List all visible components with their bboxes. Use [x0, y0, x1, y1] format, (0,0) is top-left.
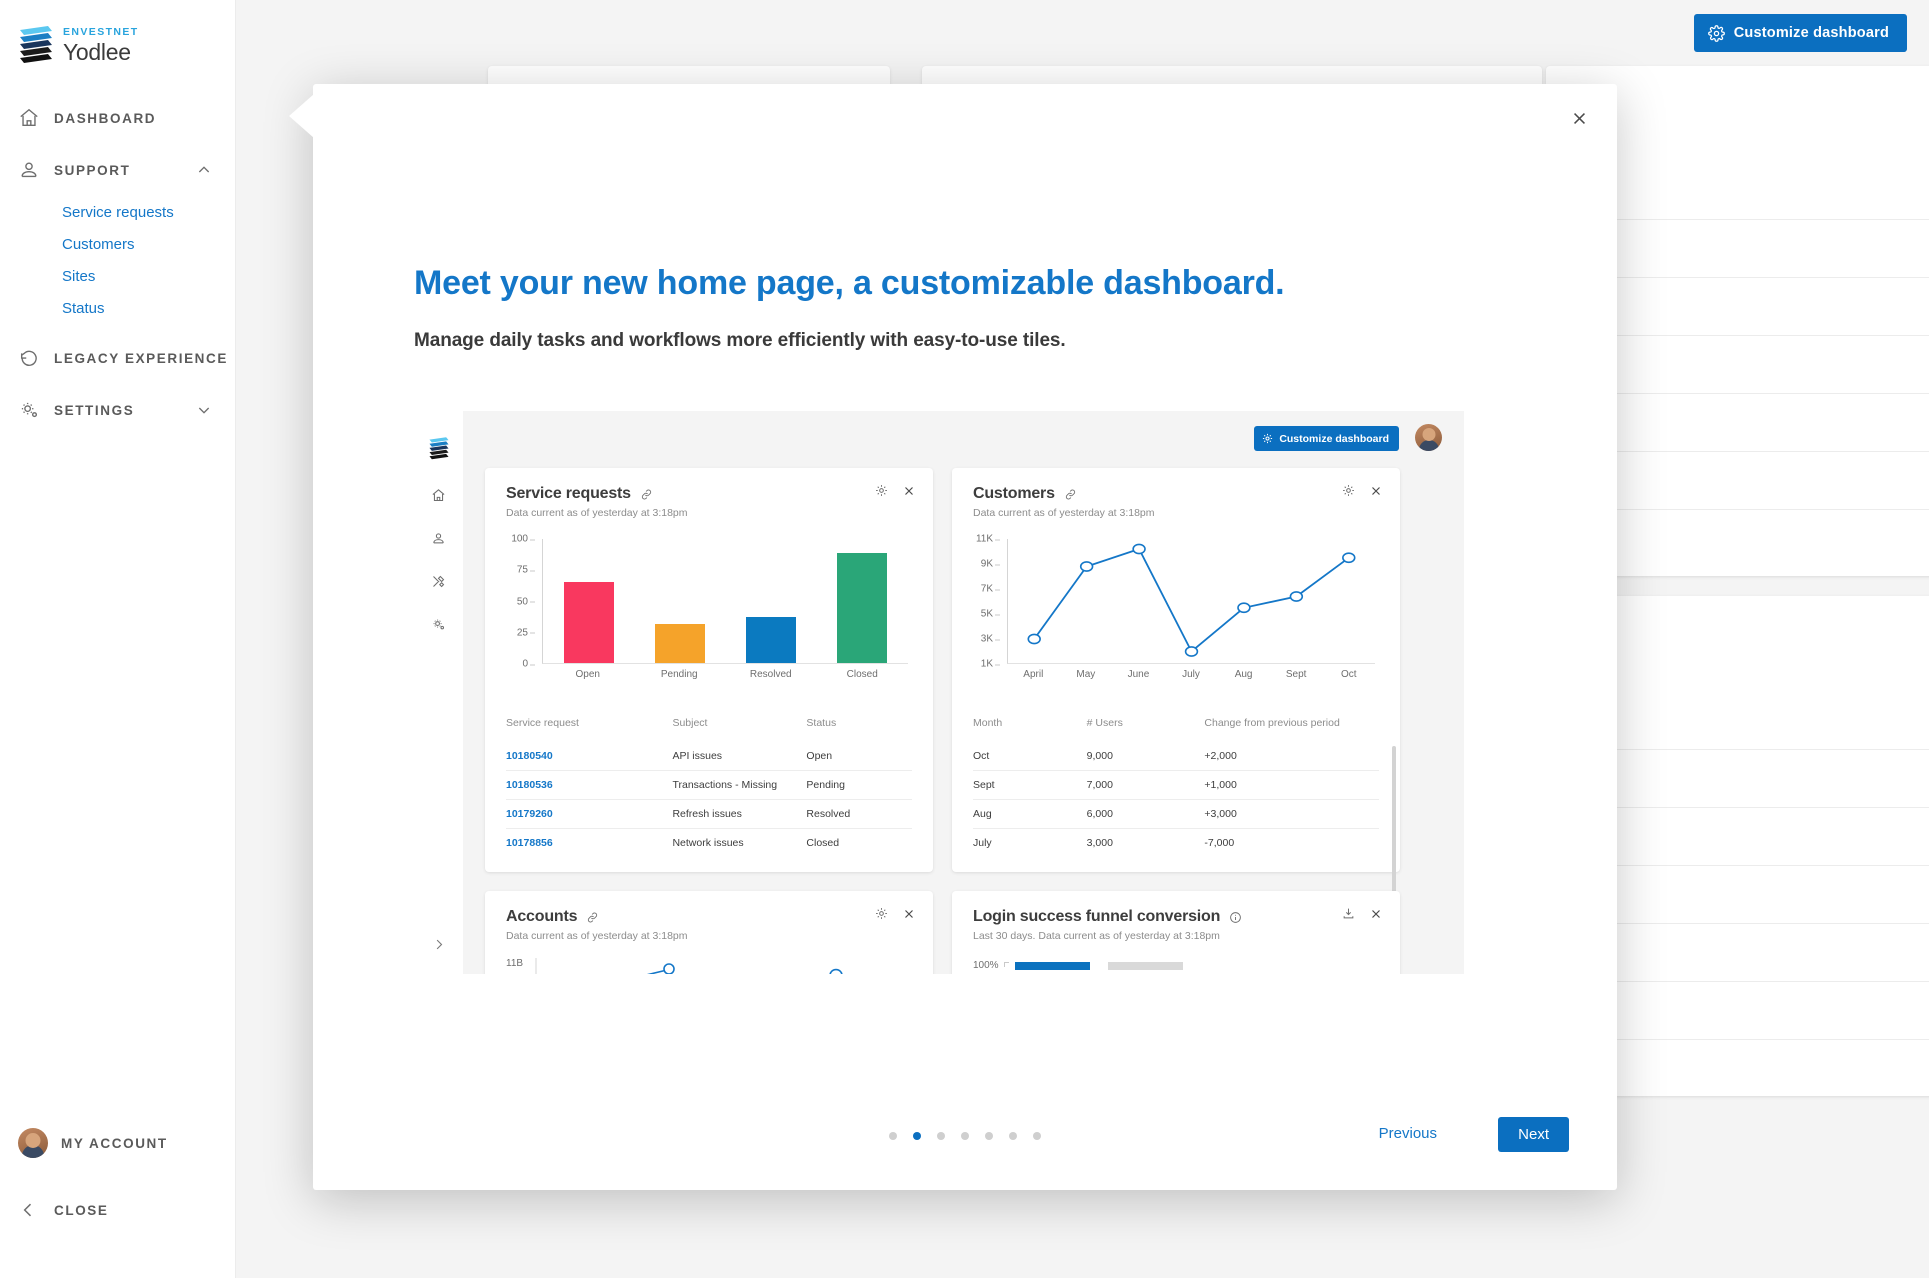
table-header-row: Service request Subject Status — [506, 717, 912, 742]
close-sidebar-label: CLOSE — [54, 1203, 109, 1218]
subject-cell: Transactions - Missing — [672, 771, 806, 800]
bar-chart-y-axis: 100 75 50 25 0 — [506, 539, 536, 664]
customize-dashboard-button[interactable]: Customize dashboard — [1694, 14, 1907, 52]
table-row[interactable]: 10178856Network issuesClosed — [506, 829, 912, 858]
tile-customers[interactable]: Customers Data current as of yesterday a… — [952, 468, 1400, 872]
column-header: Status — [806, 717, 912, 742]
line-chart-plot — [1007, 539, 1375, 664]
login-funnel-chart: 100% — [973, 960, 1379, 974]
tile-subtitle: Data current as of yesterday at 3:18pm — [973, 507, 1379, 519]
sidebar-item-legacy-experience[interactable]: LEGACY EXPERIENCE — [0, 332, 236, 384]
status-cell: Resolved — [806, 800, 912, 829]
data-point — [1133, 544, 1145, 553]
preview-tile-grid: Service requests Data current as of yest… — [485, 468, 1442, 974]
line-chart-y-axis: 11K9K7K5K3K1K — [973, 539, 1001, 664]
top-bar: Customize dashboard — [472, 0, 1929, 68]
bar-resolved — [746, 617, 796, 663]
tile-subtitle: Last 30 days. Data current as of yesterd… — [973, 930, 1379, 942]
my-account-label: MY ACCOUNT — [61, 1136, 168, 1151]
brand-name-bottom: Yodlee — [63, 39, 131, 65]
my-account-button[interactable]: MY ACCOUNT — [18, 1128, 168, 1158]
gear-icon[interactable] — [875, 907, 888, 920]
link-icon[interactable] — [640, 488, 653, 501]
preview-topbar: Customize dashboard — [463, 411, 1464, 468]
sidebar-sublabel: Status — [62, 300, 105, 317]
tile-title: Accounts — [506, 908, 577, 926]
y-tick: 100 — [511, 534, 528, 545]
funnel-bar-2 — [1108, 962, 1183, 970]
close-icon[interactable] — [1370, 485, 1382, 497]
month-cell: July — [973, 829, 1087, 858]
x-tick: Open — [563, 669, 613, 680]
gear-icon[interactable] — [1342, 484, 1355, 497]
table-row[interactable]: July3,000-7,000 — [973, 829, 1379, 858]
service-request-link[interactable]: 10180540 — [506, 750, 553, 762]
brand-name-top: ENVESTNET — [63, 26, 139, 38]
column-header: # Users — [1087, 717, 1205, 742]
tile-login-success-funnel[interactable]: Login success funnel conversion Last 30 … — [952, 891, 1400, 974]
change-cell: +2,000 — [1204, 742, 1379, 771]
preview-customize-dashboard-button[interactable]: Customize dashboard — [1254, 426, 1399, 451]
tile-controls[interactable] — [875, 484, 915, 497]
carousel-dot[interactable] — [985, 1132, 993, 1140]
tile-accounts[interactable]: Accounts Data current as of yesterday at… — [485, 891, 933, 974]
download-icon[interactable] — [1342, 907, 1355, 920]
month-cell: Sept — [973, 771, 1087, 800]
data-point — [1290, 592, 1302, 601]
y-tick: 50 — [517, 596, 528, 607]
chevron-right-icon[interactable] — [431, 937, 446, 952]
change-cell: +3,000 — [1204, 800, 1379, 829]
change-cell: -7,000 — [1204, 829, 1379, 858]
tile-subtitle: Data current as of yesterday at 3:18pm — [506, 930, 912, 942]
customers-line-chart: 11K9K7K5K3K1K AprilMayJuneJulyAugSeptOct — [973, 539, 1379, 691]
accounts-line-chart: 11B — [506, 958, 912, 974]
sidebar-item-customers[interactable]: Customers — [0, 228, 236, 260]
yodlee-logo-icon — [18, 24, 54, 64]
x-tick: July — [1165, 669, 1218, 680]
gear-icon — [1708, 25, 1725, 42]
x-tick: Sept — [1270, 669, 1323, 680]
yodlee-logo-icon — [428, 436, 450, 460]
data-point — [1186, 647, 1198, 656]
bar-chart-x-labels: OpenPendingResolvedClosed — [542, 669, 908, 680]
y-tick: 100% — [973, 960, 999, 971]
column-header: Change from previous period — [1204, 717, 1379, 742]
support-agent-icon[interactable] — [431, 531, 446, 546]
table-row[interactable]: Oct9,000+2,000 — [973, 742, 1379, 771]
users-cell: 3,000 — [1087, 829, 1205, 858]
y-tick: 3K — [981, 634, 993, 645]
sidebar-label: SUPPORT — [54, 163, 130, 178]
brand-logo[interactable]: ENVESTNET Yodlee — [18, 22, 139, 65]
next-button[interactable]: Next — [1498, 1117, 1569, 1152]
data-point — [1238, 603, 1250, 612]
sidebar-item-service-requests[interactable]: Service requests — [0, 196, 236, 228]
tile-header: Customers — [973, 485, 1379, 503]
close-icon[interactable] — [903, 908, 915, 920]
x-tick: Aug — [1217, 669, 1270, 680]
table-header-row: Month # Users Change from previous perio… — [973, 717, 1379, 742]
bar-pending — [655, 624, 705, 663]
sidebar-subnav-support: Service requests Customers Sites Status — [0, 196, 236, 324]
funnel-bar-1 — [1015, 962, 1090, 970]
y-tick: 1K — [981, 659, 993, 670]
bar-open — [564, 582, 614, 663]
y-tick: 11B — [506, 958, 523, 969]
x-tick: Oct — [1322, 669, 1375, 680]
support-agent-icon — [18, 159, 48, 181]
link-icon[interactable] — [586, 911, 599, 924]
sidebar-item-dashboard[interactable]: DASHBOARD — [0, 92, 236, 144]
y-tick: 7K — [981, 584, 993, 595]
data-point — [1081, 562, 1093, 571]
month-cell: Aug — [973, 800, 1087, 829]
x-tick: May — [1060, 669, 1113, 680]
close-sidebar-button[interactable]: CLOSE — [18, 1200, 109, 1220]
chevron-left-icon — [18, 1200, 38, 1220]
previous-button[interactable]: Previous — [1369, 1117, 1447, 1150]
change-cell: +1,000 — [1204, 771, 1379, 800]
dashboard-preview-image: Customize dashboard — [414, 411, 1464, 974]
gear-icon — [1262, 433, 1273, 444]
column-header: Subject — [672, 717, 806, 742]
service-requests-table: Service request Subject Status 10180540A… — [506, 717, 912, 857]
column-header: Month — [973, 717, 1087, 742]
column-header: Service request — [506, 717, 672, 742]
tile-header: Service requests — [506, 485, 912, 503]
history-undo-icon — [18, 347, 48, 369]
bar-chart-plot — [542, 539, 908, 664]
carousel-dot[interactable] — [1009, 1132, 1017, 1140]
y-tick: 0 — [522, 659, 528, 670]
modal-title: Meet your new home page, a customizable … — [414, 264, 1284, 303]
month-cell: Oct — [973, 742, 1087, 771]
sidebar-item-settings[interactable]: SETTINGS — [0, 384, 236, 436]
preview-nav-rail — [414, 411, 463, 974]
preview-customize-label: Customize dashboard — [1279, 433, 1389, 445]
link-icon[interactable] — [1064, 488, 1077, 501]
status-cell: Open — [806, 742, 912, 771]
status-cell: Pending — [806, 771, 912, 800]
table-row[interactable]: 10180536Transactions - MissingPending — [506, 771, 912, 800]
sidebar-label: LEGACY EXPERIENCE — [54, 351, 228, 366]
service-request-link[interactable]: 10180536 — [506, 779, 553, 791]
subject-cell: API issues — [672, 742, 806, 771]
preview-main: Customize dashboard — [463, 411, 1464, 974]
carousel-dot[interactable] — [1033, 1132, 1041, 1140]
info-icon[interactable] — [1229, 911, 1242, 924]
tile-header: Login success funnel conversion — [973, 908, 1379, 926]
sidebar-sublabel: Service requests — [62, 204, 174, 221]
service-requests-bar-chart: 100 75 50 25 0 OpenPendingResolvedClosed — [506, 539, 912, 691]
x-tick: Resolved — [746, 669, 796, 680]
sidebar-label: SETTINGS — [54, 403, 134, 418]
users-cell: 9,000 — [1087, 742, 1205, 771]
subject-cell: Refresh issues — [672, 800, 806, 829]
sidebar-label: DASHBOARD — [54, 111, 156, 126]
service-request-link[interactable]: 10179260 — [506, 808, 553, 820]
carousel-dot[interactable] — [961, 1132, 969, 1140]
gear-icon[interactable] — [431, 617, 446, 632]
x-tick: June — [1112, 669, 1165, 680]
sidebar-sublabel: Sites — [62, 268, 95, 285]
customize-dashboard-label: Customize dashboard — [1734, 25, 1889, 41]
y-tick: 25 — [517, 627, 528, 638]
chevron-down-icon[interactable] — [196, 402, 212, 418]
sidebar-sublabel: Customers — [62, 236, 135, 253]
tile-title: Login success funnel conversion — [973, 908, 1220, 926]
tile-title: Customers — [973, 485, 1055, 503]
sidebar-nav: DASHBOARD SUPPORT — [0, 92, 236, 436]
y-tick: 5K — [981, 609, 993, 620]
close-icon[interactable] — [903, 485, 915, 497]
modal-close-button[interactable] — [1565, 104, 1593, 132]
avatar[interactable] — [1415, 424, 1442, 451]
sidebar-item-sites[interactable]: Sites — [0, 260, 236, 292]
home-icon — [18, 107, 48, 129]
y-tick: 11K — [976, 534, 993, 545]
gear-icon[interactable] — [875, 484, 888, 497]
tile-subtitle: Data current as of yesterday at 3:18pm — [506, 507, 912, 519]
y-tick: 9K — [981, 559, 993, 570]
customers-table: Month # Users Change from previous perio… — [973, 717, 1379, 857]
x-tick: Closed — [837, 669, 887, 680]
table-row[interactable]: 10180540API issuesOpen — [506, 742, 912, 771]
gear-icon — [18, 399, 48, 421]
subject-cell: Network issues — [672, 829, 806, 858]
modal-pointer — [289, 94, 314, 138]
close-icon[interactable] — [1370, 908, 1382, 920]
tools-icon[interactable] — [431, 574, 446, 589]
data-point — [1343, 553, 1355, 562]
status-cell: Closed — [806, 829, 912, 858]
tile-controls[interactable] — [1342, 907, 1382, 920]
x-tick: Pending — [654, 669, 704, 680]
carousel-dot[interactable] — [889, 1132, 897, 1140]
bar-closed — [837, 553, 887, 663]
chevron-up-icon[interactable] — [196, 162, 212, 178]
sidebar-item-status[interactable]: Status — [0, 292, 236, 324]
tile-controls[interactable] — [1342, 484, 1382, 497]
modal-subtitle: Manage daily tasks and workflows more ef… — [414, 330, 1066, 352]
service-request-link[interactable]: 10178856 — [506, 837, 553, 849]
data-point — [1028, 634, 1040, 643]
line-chart-x-labels: AprilMayJuneJulyAugSeptOct — [1007, 669, 1375, 680]
home-icon[interactable] — [431, 488, 446, 503]
tile-header: Accounts — [506, 908, 912, 926]
table-row[interactable]: Sept7,000+1,000 — [973, 771, 1379, 800]
tile-title: Service requests — [506, 485, 631, 503]
y-tick: 75 — [517, 565, 528, 576]
table-row[interactable]: Aug6,000+3,000 — [973, 800, 1379, 829]
x-tick: April — [1007, 669, 1060, 680]
users-cell: 7,000 — [1087, 771, 1205, 800]
carousel-dot[interactable] — [913, 1132, 921, 1140]
carousel-dots[interactable] — [889, 1132, 1041, 1140]
table-row[interactable]: 10179260Refresh issuesResolved — [506, 800, 912, 829]
sidebar-item-support[interactable]: SUPPORT — [0, 144, 236, 196]
tile-controls[interactable] — [875, 907, 915, 920]
users-cell: 6,000 — [1087, 800, 1205, 829]
carousel-dot[interactable] — [937, 1132, 945, 1140]
onboarding-modal: Meet your new home page, a customizable … — [313, 84, 1617, 1190]
tile-service-requests[interactable]: Service requests Data current as of yest… — [485, 468, 933, 872]
sidebar: ENVESTNET Yodlee DASHBOARD — [0, 0, 236, 1278]
avatar — [18, 1128, 48, 1158]
